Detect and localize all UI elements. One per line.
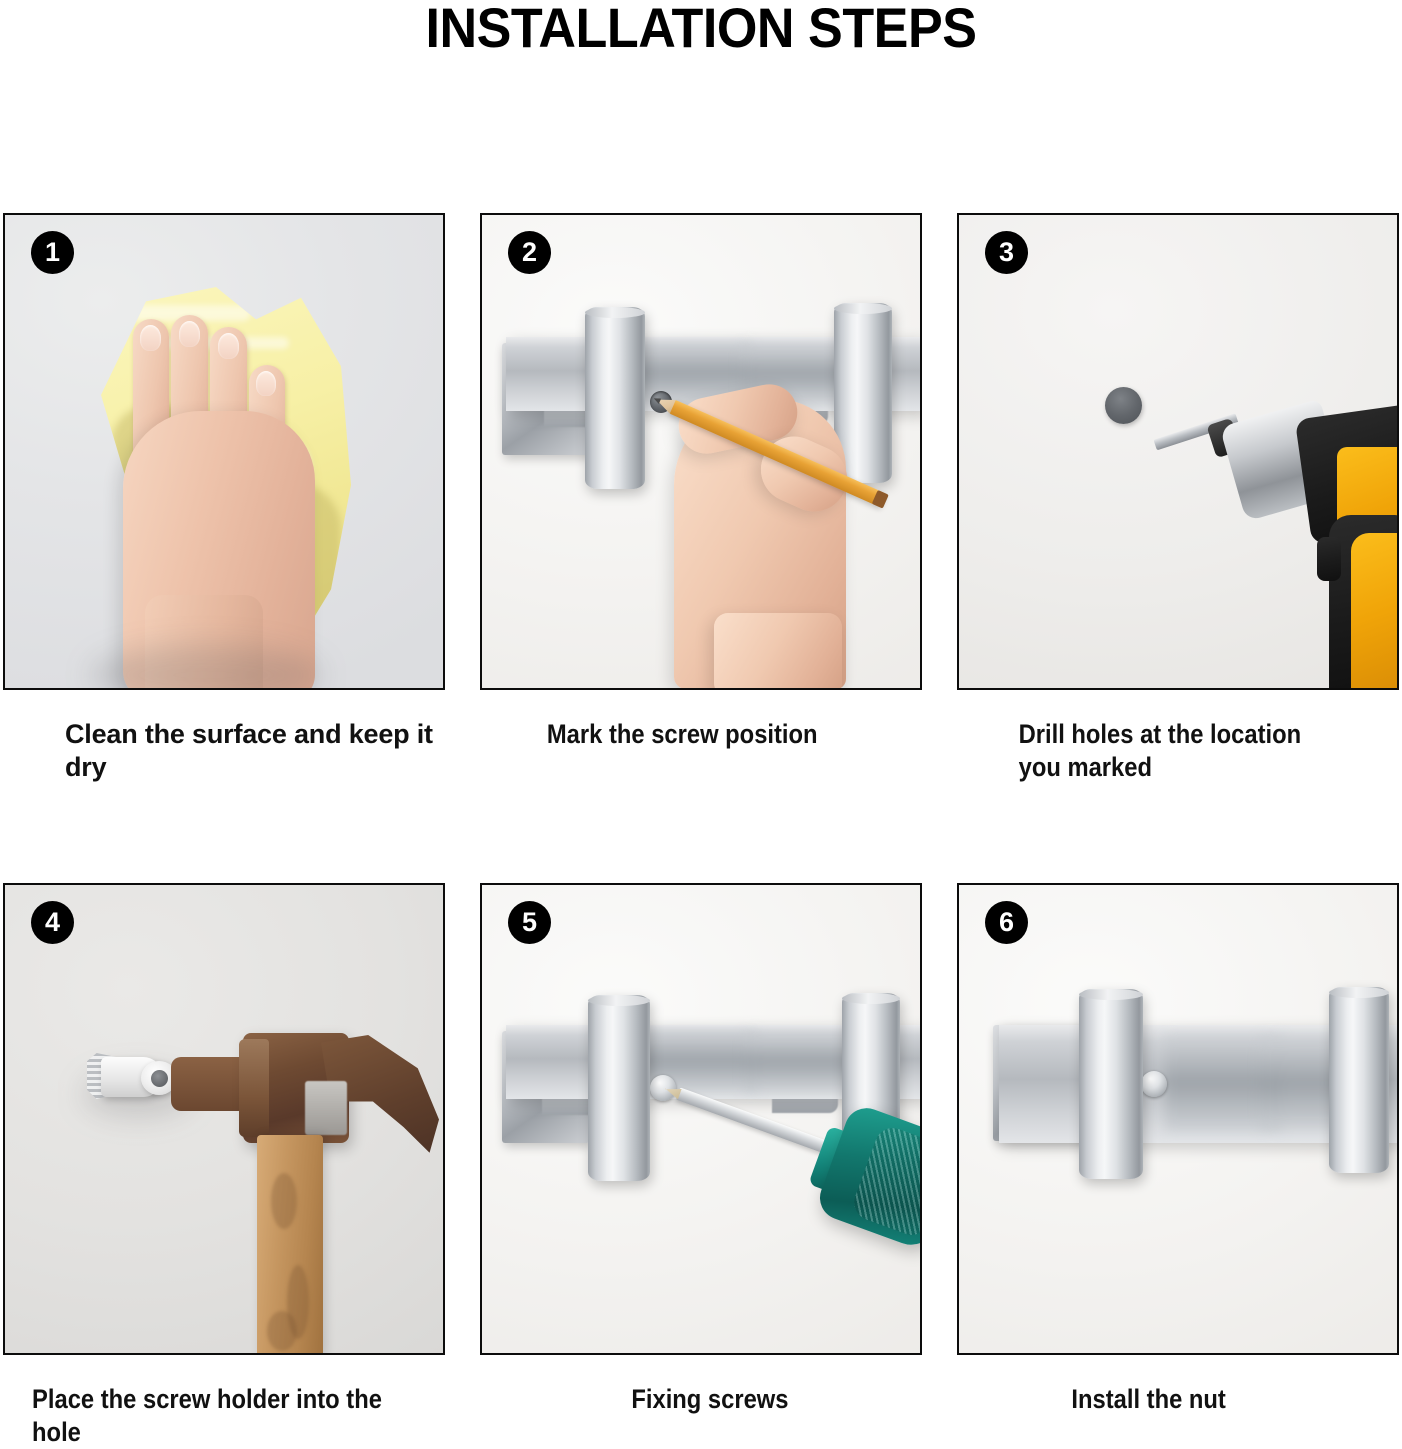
step-badge-4: 4 bbox=[31, 901, 74, 944]
wall-backdrop bbox=[5, 885, 443, 1353]
step-image-6: 6 bbox=[957, 883, 1399, 1355]
installed-screw bbox=[1141, 1071, 1167, 1097]
step-card-1: 1 Clean the surface and keep it dry bbox=[3, 213, 445, 784]
step-image-5: 5 bbox=[480, 883, 922, 1355]
step-caption-3: Drill holes at the location you marked bbox=[957, 718, 1346, 784]
step-badge-1: 1 bbox=[31, 231, 74, 274]
hook-cylinder bbox=[1329, 987, 1389, 1173]
drill-trigger bbox=[1317, 537, 1341, 581]
page-title: INSTALLATION STEPS bbox=[49, 0, 1353, 56]
step-caption-2: Mark the screw position bbox=[480, 718, 869, 751]
step-card-5: 5 Fixing screws bbox=[480, 883, 922, 1449]
step-caption-4: Place the screw holder into the hole bbox=[3, 1383, 384, 1449]
step-badge-5: 5 bbox=[508, 901, 551, 944]
step-badge-6: 6 bbox=[985, 901, 1028, 944]
hammer-face bbox=[239, 1039, 269, 1137]
step-card-3: 3 Drill holes at the location you marked bbox=[957, 213, 1399, 784]
step-image-4: 4 bbox=[3, 883, 445, 1355]
step-badge-2: 2 bbox=[508, 231, 551, 274]
hook-cylinder bbox=[588, 995, 650, 1181]
step-card-4: 4 Place the screw holder into the hole bbox=[3, 883, 445, 1449]
step-caption-1: Clean the surface and keep it dry bbox=[3, 718, 445, 784]
step-image-3: 3 bbox=[957, 213, 1399, 690]
step-card-6: 6 Install the nut bbox=[957, 883, 1399, 1449]
step-badge-3: 3 bbox=[985, 231, 1028, 274]
drill-grip-yellow bbox=[1351, 533, 1399, 690]
hook-rail bbox=[959, 885, 1399, 1355]
screw-head bbox=[650, 1075, 676, 1101]
step-caption-6: Install the nut bbox=[957, 1383, 1346, 1416]
step-image-2: 2 bbox=[480, 213, 922, 690]
hook-cylinder bbox=[585, 307, 645, 489]
step-caption-5: Fixing screws bbox=[480, 1383, 869, 1416]
steps-row-1: 1 Clean the surface and keep it dry bbox=[3, 213, 1399, 784]
installation-steps-infographic: INSTALLATION STEPS bbox=[0, 0, 1402, 1433]
hook-cylinder bbox=[1079, 989, 1143, 1179]
hammer-handle bbox=[257, 1135, 323, 1355]
wrist bbox=[714, 613, 842, 690]
steps-row-2: 4 Place the screw holder into the hole bbox=[3, 883, 1399, 1449]
drilled-hole bbox=[1105, 387, 1142, 424]
step-card-2: 2 Mark the screw position bbox=[480, 213, 922, 784]
step-image-1: 1 bbox=[3, 213, 445, 690]
